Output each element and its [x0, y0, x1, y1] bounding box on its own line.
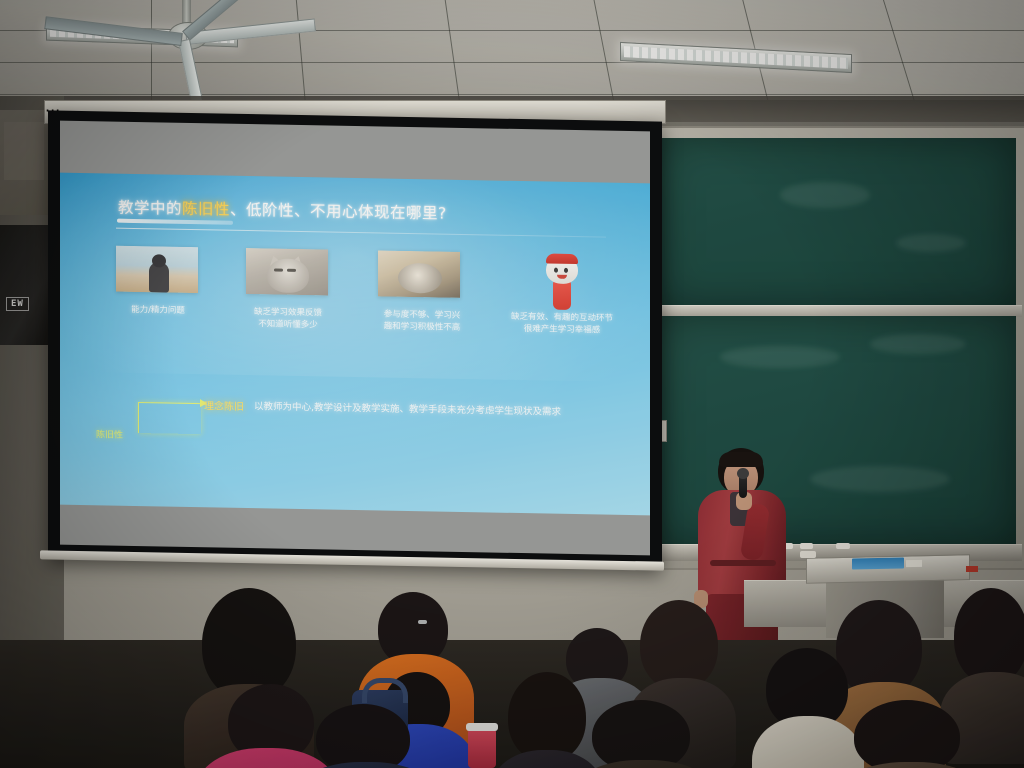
slide-title-suffix: 、低阶性、不用心体现在哪里? [230, 201, 447, 223]
note-text: 以教师为中心,教学设计及教学实施、教学手段未充分考虑学生现状及需求 [254, 398, 561, 418]
chalkboard-upper [660, 138, 1016, 308]
thumbnail-cat-closeup [378, 250, 460, 298]
projection-screen: 教学中的陈旧性、低阶性、不用心体现在哪里? [48, 110, 662, 569]
attendee-hair [508, 672, 586, 762]
presenter-fringe [719, 452, 763, 467]
thumbnail-caption-1: 能力/精力问题 [106, 303, 210, 317]
slide-content: 教学中的陈旧性、低阶性、不用心体现在哪里? [60, 173, 650, 516]
podium-paper [906, 560, 922, 567]
slide-title-prefix: 教学中的 [118, 199, 182, 218]
chalk-piece[interactable] [800, 543, 813, 549]
podium-laptop-screen [852, 557, 904, 569]
caption-line: 缺乏学习效果反馈 [228, 306, 348, 320]
speaker-label: EW [6, 297, 29, 311]
microphone-head [737, 468, 749, 479]
attendee-hair [592, 700, 690, 768]
presenter-belt [710, 560, 776, 566]
thumbnail-row: 能力/精力问题 缺乏学习效果反馈 不知道听懂多少 参与度不够、学习兴 趣和学习积… [60, 245, 650, 386]
attendee-hair [954, 588, 1024, 684]
thumbnail-cat [246, 248, 328, 296]
caption-line: 能力/精力问题 [106, 303, 210, 317]
note-left-label: 陈旧性 [96, 427, 123, 440]
attendee-hair [316, 704, 410, 768]
thumbnail-caption-3: 参与度不够、学习兴 趣和学习积极性不高 [360, 308, 484, 334]
note-arrow-icon [138, 402, 201, 434]
title-underline [117, 219, 233, 225]
red-mascot-figure [544, 253, 582, 314]
red-marker[interactable] [966, 566, 978, 572]
caption-line: 参与度不够、学习兴 [360, 308, 484, 322]
classroom-photo: EW ··· 教学中的陈旧性、低阶性、不用心体现在哪里? [0, 0, 1024, 768]
thumbnail-caption-2: 缺乏学习效果反馈 不知道听懂多少 [228, 306, 348, 332]
caption-line: 趣和学习积极性不高 [360, 320, 484, 334]
title-rule [116, 228, 606, 238]
wall-patch-inner [4, 122, 44, 180]
projector-glow [60, 173, 650, 384]
board-eraser[interactable] [800, 551, 816, 558]
thumbnail-girl-on-cliff [116, 246, 198, 294]
chalk-piece[interactable] [836, 543, 850, 549]
attendee-hair [854, 700, 960, 768]
caption-line: 很难产生学习幸福感 [494, 323, 630, 337]
hair-clip [418, 620, 427, 624]
screen-surface: 教学中的陈旧性、低阶性、不用心体现在哪里? [60, 121, 650, 556]
note-key: 理念陈旧 [204, 397, 244, 413]
thumbnail-caption-4: 缺乏有效、有趣的互动环节 很难产生学习幸福感 [494, 311, 630, 337]
thermos-cup [468, 728, 496, 768]
caption-line: 不知道听懂多少 [228, 318, 348, 332]
caption-line: 缺乏有效、有趣的互动环节 [494, 311, 630, 325]
slide-note-row: 陈旧性 理念陈旧 以教师为中心,教学设计及教学实施、教学手段未充分考虑学生现状及… [60, 387, 650, 458]
slide-title-highlight: 陈旧性 [182, 200, 230, 219]
slide-title: 教学中的陈旧性、低阶性、不用心体现在哪里? [118, 196, 447, 224]
attendee-hair [640, 600, 718, 690]
ceiling-light-right [620, 42, 852, 73]
